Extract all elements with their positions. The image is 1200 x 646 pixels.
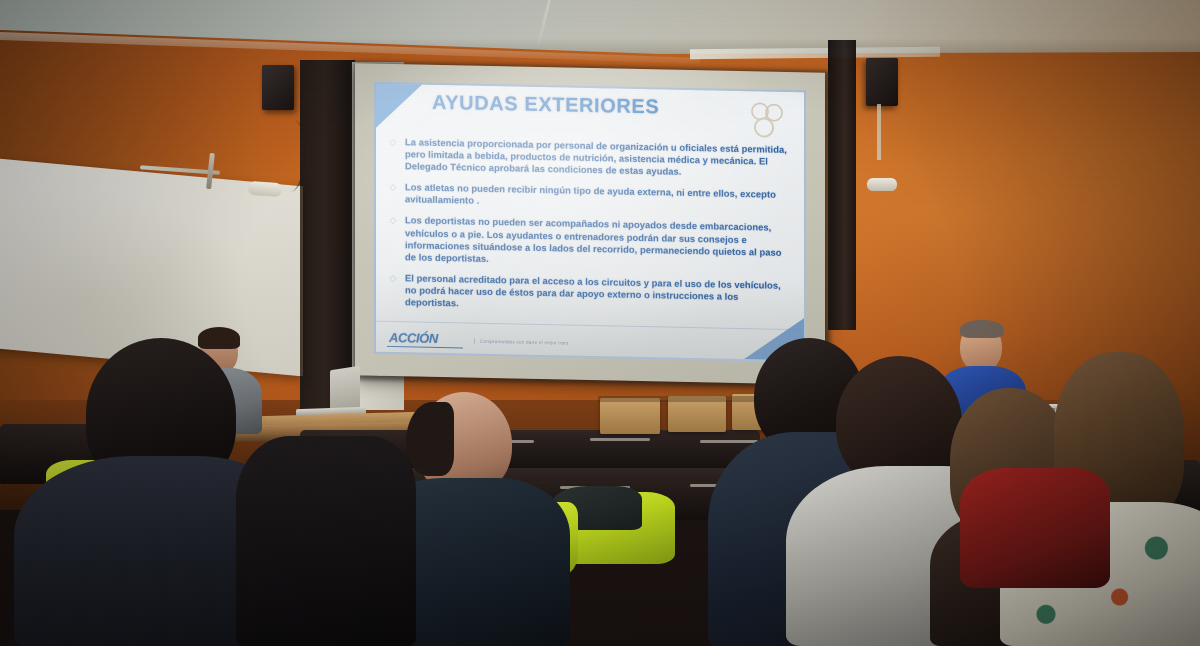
door-frame-dark xyxy=(300,60,355,410)
speaker-conduit xyxy=(877,104,881,160)
wall-socket-right xyxy=(867,178,897,191)
bullet-text: La asistencia proporcionada por personal… xyxy=(405,136,790,180)
bullet-marker-icon: ◇ xyxy=(388,181,398,205)
lecture-room-photo: AYUDAS EXTERIORES ◇ La asistencia propor… xyxy=(0,0,1200,646)
slide-bullet-list: ◇ La asistencia proporcionada por person… xyxy=(388,136,790,325)
seat-highlight xyxy=(590,438,650,441)
audience-torso xyxy=(236,436,416,646)
attendee-hair xyxy=(960,320,1004,338)
slide-title: AYUDAS EXTERIORES xyxy=(432,92,659,120)
wooden-chair xyxy=(600,398,660,434)
list-item: ◇ Los atletas no pueden recibir ningún t… xyxy=(388,181,790,213)
bullet-marker-icon: ◇ xyxy=(388,136,398,172)
bullet-marker-icon: ◇ xyxy=(388,272,398,308)
bullet-text: Los deportistas no pueden ser acompañado… xyxy=(405,215,790,271)
list-item: ◇ Los deportistas no pueden ser acompaña… xyxy=(388,214,790,270)
ceiling-speaker-left-icon xyxy=(262,65,294,110)
audience-member-8 xyxy=(236,436,416,646)
olympic-rings-icon xyxy=(746,99,790,144)
accion-logo: ACCIÓN xyxy=(389,330,438,346)
right-dark-column xyxy=(828,40,856,330)
presentation-slide: AYUDAS EXTERIORES ◇ La asistencia propor… xyxy=(374,82,806,363)
bullet-text: Los atletas no pueden recibir ningún tip… xyxy=(405,182,790,214)
bullet-text: El personal acreditado para el acceso a … xyxy=(405,272,790,316)
ceiling-speaker-right-icon xyxy=(866,58,898,106)
slide-corner-wedge-icon xyxy=(376,84,422,129)
logo-tagline: Comprometidos con darte el mejor trato xyxy=(474,339,569,346)
audience-member-2 xyxy=(392,392,552,646)
bullet-marker-icon: ◇ xyxy=(388,214,398,263)
red-garment xyxy=(960,468,1110,588)
list-item: ◇ El personal acreditado para el acceso … xyxy=(388,272,790,316)
audience-member-7-red xyxy=(960,468,1110,588)
list-item: ◇ La asistencia proporcionada por person… xyxy=(388,136,790,180)
projection-screen: AYUDAS EXTERIORES ◇ La asistencia propor… xyxy=(355,63,825,384)
